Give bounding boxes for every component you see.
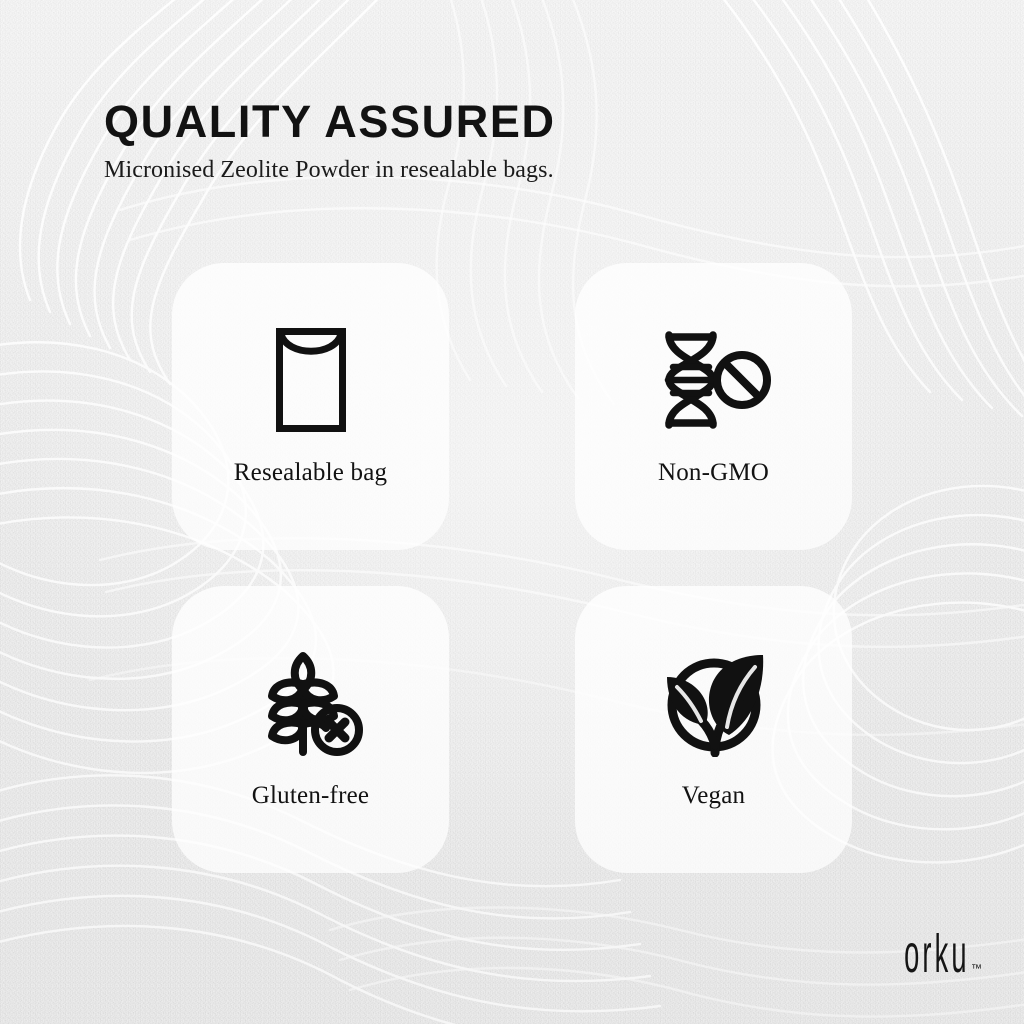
feature-label: Non-GMO [658, 459, 769, 487]
brand-name: orku [905, 931, 970, 979]
feature-card-gluten-free[interactable]: Gluten-free [172, 586, 449, 873]
resealable-bag-icon [275, 321, 347, 439]
page-title: QUALITY ASSURED [104, 98, 924, 146]
wheat-crossed-out-icon [258, 644, 364, 762]
feature-card-vegan[interactable]: Vegan [575, 586, 852, 873]
feature-label: Gluten-free [252, 782, 369, 810]
header-block: QUALITY ASSURED Micronised Zeolite Powde… [104, 98, 924, 184]
brand-logo: orku ™ [864, 939, 982, 979]
dna-no-gmo-icon [655, 321, 773, 439]
feature-label: Resealable bag [234, 459, 387, 487]
product-feature-graphic: QUALITY ASSURED Micronised Zeolite Powde… [0, 0, 1024, 1024]
trademark-symbol: ™ [971, 963, 982, 975]
feature-card-non-gmo[interactable]: Non-GMO [575, 263, 852, 550]
feature-card-resealable-bag[interactable]: Resealable bag [172, 263, 449, 550]
page-subtitle: Micronised Zeolite Powder in resealable … [104, 156, 924, 185]
feature-label: Vegan [682, 782, 745, 810]
feature-card-grid: Resealable bag [172, 263, 852, 873]
leaf-sprout-icon [659, 644, 769, 762]
